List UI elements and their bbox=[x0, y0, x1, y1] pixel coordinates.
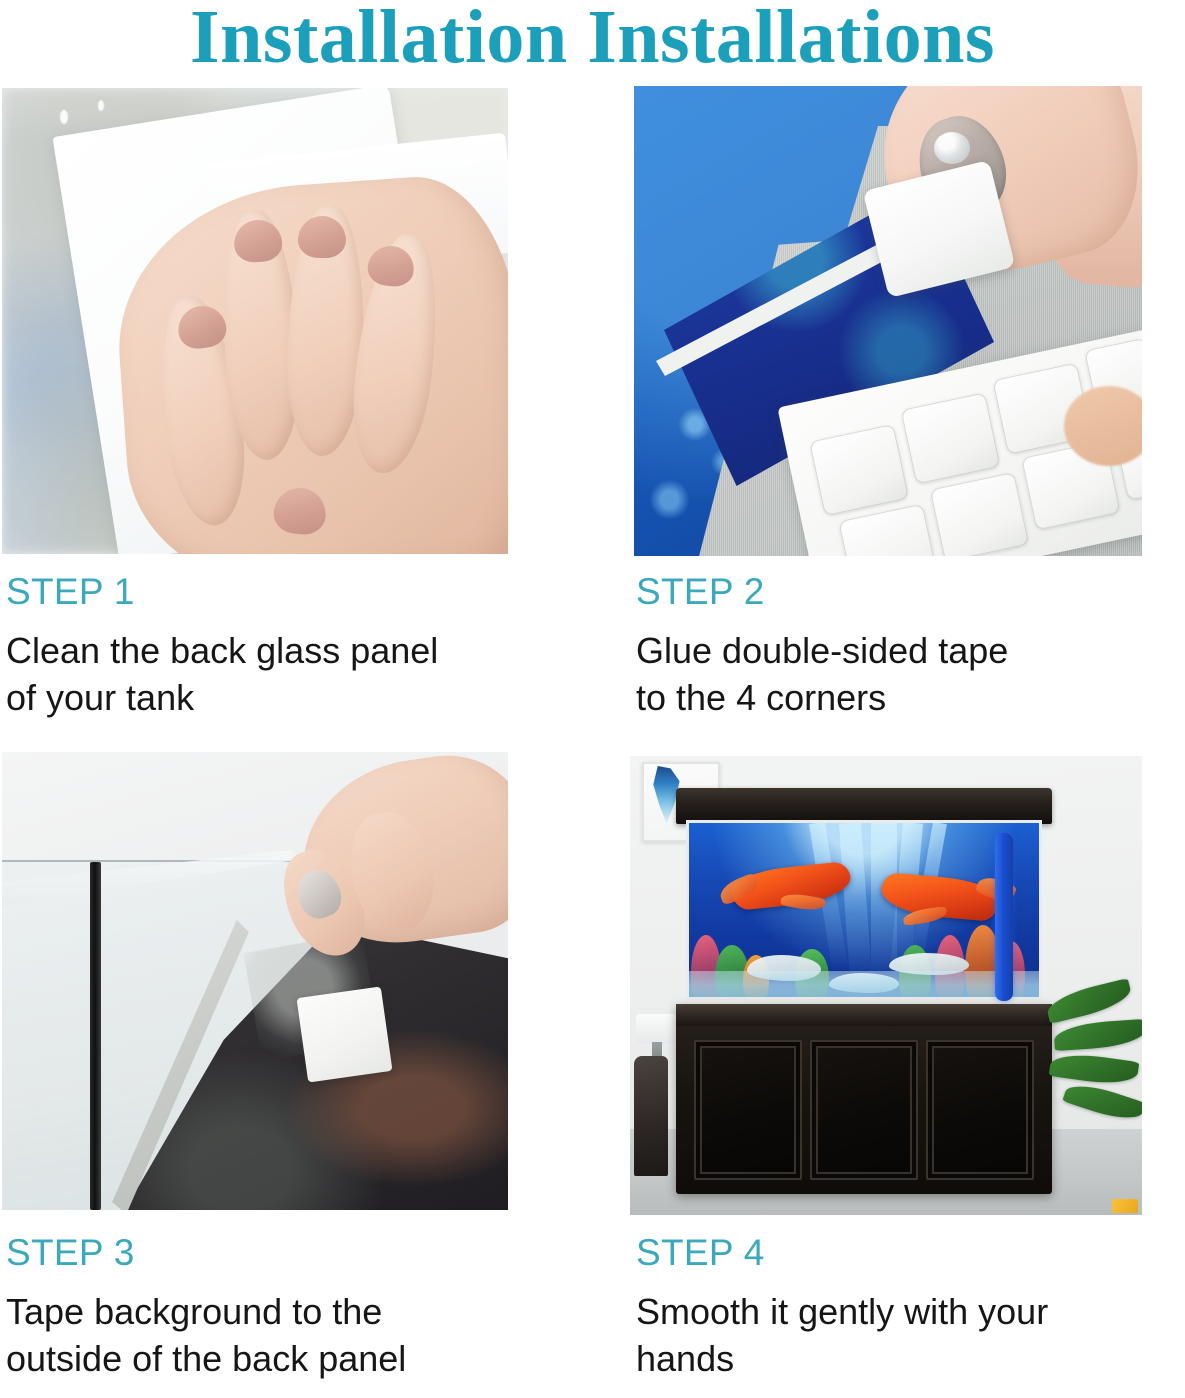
installation-guide-page: Installation Installations STEP 1 Clean … bbox=[0, 0, 1185, 1398]
dark-floor-object bbox=[634, 1056, 668, 1176]
aquarium-cabinet-stand bbox=[676, 1004, 1052, 1194]
step-3-description: Tape background to the outside of the ba… bbox=[6, 1289, 566, 1383]
water-droplet-icon bbox=[60, 110, 68, 124]
cabinet-door[interactable] bbox=[810, 1040, 918, 1180]
step-2-description: Glue double-sided tape to the 4 corners bbox=[636, 628, 1176, 722]
adhesive-pad bbox=[930, 472, 1030, 556]
step-2-label: STEP 2 bbox=[636, 571, 765, 613]
aquarium-glass-tank bbox=[686, 820, 1042, 1000]
plant-leaf bbox=[1044, 978, 1134, 1024]
step-4-description: Smooth it gently with your hands bbox=[636, 1289, 1181, 1383]
adhesive-pad bbox=[838, 504, 937, 556]
tank-black-corner-trim bbox=[90, 862, 101, 1210]
adhesive-pad bbox=[809, 424, 909, 516]
plant-leaf bbox=[1053, 1019, 1142, 1051]
cabinet-door[interactable] bbox=[926, 1040, 1034, 1180]
plant-leaf bbox=[1062, 1078, 1142, 1126]
step-1-description: Clean the back glass panel of your tank bbox=[6, 628, 566, 722]
step-1-photo bbox=[2, 88, 508, 554]
nail-gem-decoration-icon bbox=[934, 132, 970, 164]
aquarium-hood bbox=[676, 788, 1052, 824]
side-table-top bbox=[636, 1014, 680, 1044]
floor-yellow-accent bbox=[1112, 1199, 1138, 1213]
step-1-label: STEP 1 bbox=[6, 571, 135, 613]
aquarium-sand-bed bbox=[689, 971, 1039, 997]
adhesive-pad bbox=[296, 986, 392, 1082]
plant-leaf bbox=[1049, 1050, 1140, 1088]
house-plant bbox=[1028, 978, 1142, 1168]
step-4-photo bbox=[630, 756, 1142, 1215]
blue-heater-tube bbox=[995, 833, 1013, 1001]
cabinet-door[interactable] bbox=[694, 1040, 802, 1180]
cabinet-top-trim bbox=[676, 1004, 1052, 1026]
water-droplet-icon bbox=[98, 100, 104, 111]
step-3-label: STEP 3 bbox=[6, 1232, 135, 1274]
step-3-photo bbox=[2, 752, 508, 1210]
adhesive-pad bbox=[901, 392, 1001, 484]
step-4-label: STEP 4 bbox=[636, 1232, 765, 1274]
step-2-photo bbox=[634, 86, 1142, 556]
page-title: Installation Installations bbox=[0, 0, 1185, 81]
